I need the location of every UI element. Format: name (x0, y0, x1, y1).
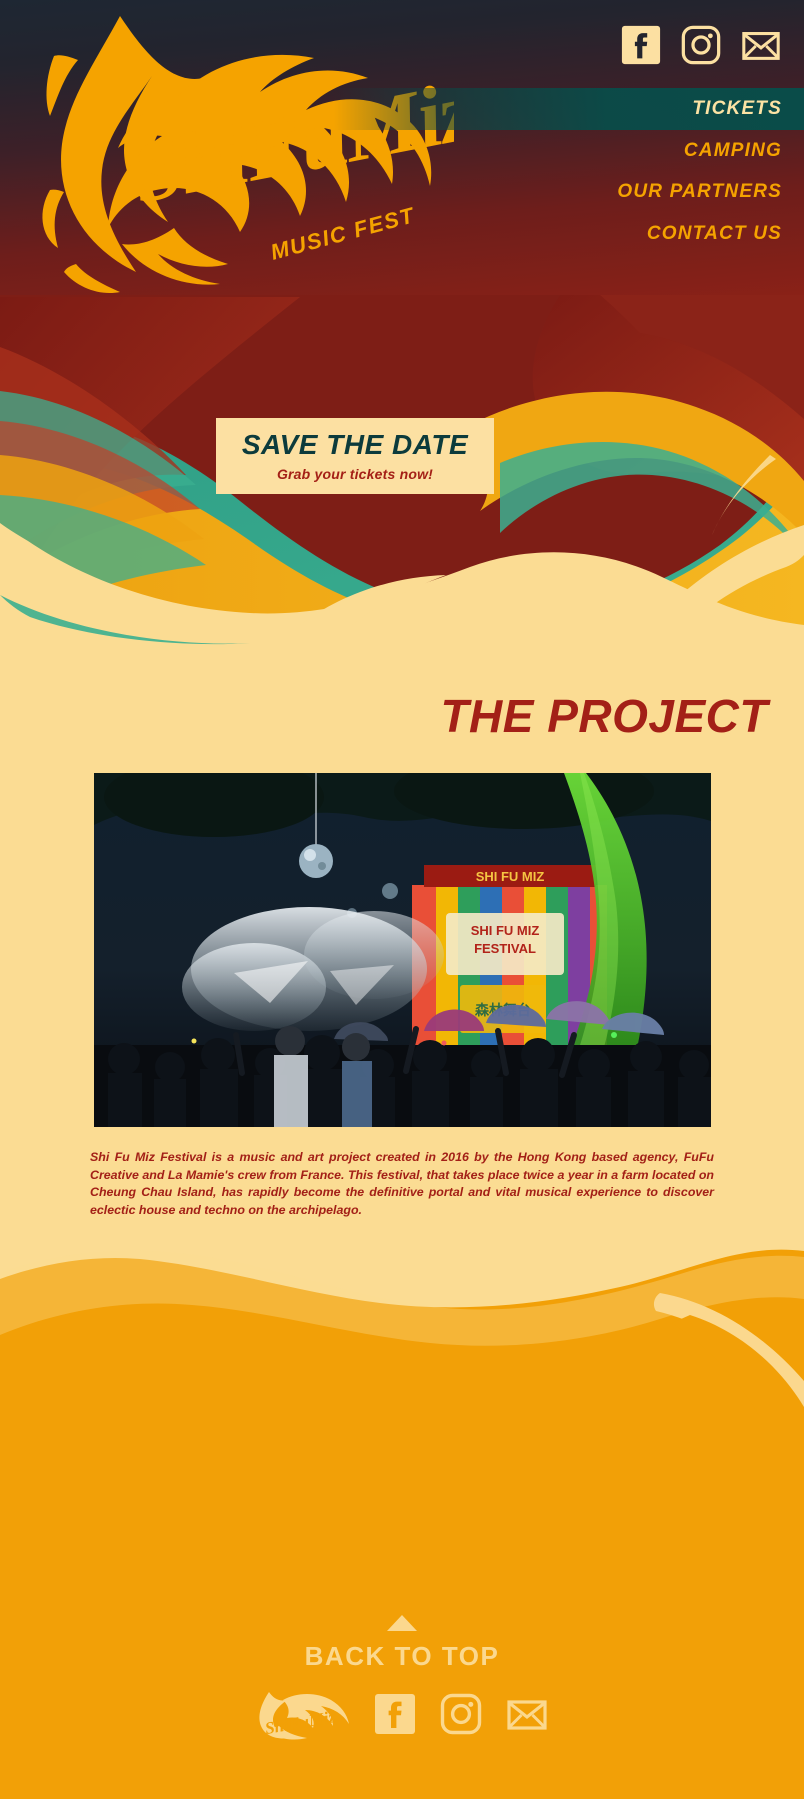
venue-section: THE VENUE Get to Cheung Chau Island (0, 1229, 804, 1621)
header-social-links (620, 24, 782, 66)
save-the-date-title: SAVE THE DATE (242, 431, 468, 459)
project-section: THE PROJECT (0, 645, 804, 1229)
svg-text:FESTIVAL: FESTIVAL (474, 941, 536, 956)
venue-wave-divider (0, 1229, 804, 1417)
back-to-top-label: BACK TO TOP (305, 1641, 500, 1672)
instagram-icon (680, 24, 722, 66)
header-instagram-link[interactable] (680, 24, 722, 66)
site-footer: BACK TO TOP ShiFuMiz (0, 1599, 804, 1799)
nav-item-tickets[interactable]: TICKETS (334, 88, 804, 130)
facebook-icon (620, 24, 662, 66)
page-root: ShiFuMiz MUSIC FEST (0, 0, 804, 1799)
project-heading: THE PROJECT (0, 645, 804, 743)
svg-text:SHI FU MIZ: SHI FU MIZ (470, 923, 539, 938)
main-navigation: TICKETS CAMPING OUR PARTNERS CONTACT US (334, 88, 804, 255)
svg-text:SHI FU MIZ: SHI FU MIZ (475, 869, 544, 884)
nav-item-our-partners[interactable]: OUR PARTNERS (334, 171, 804, 213)
project-photo: SHI FU MIZ FESTIVAL 森林舞台 SHI FU MIZ (94, 773, 711, 1127)
footer-email-link[interactable] (505, 1692, 549, 1736)
back-to-top-button[interactable]: BACK TO TOP (305, 1615, 500, 1672)
save-the-date-card[interactable]: SAVE THE DATE Grab your tickets now! (216, 418, 494, 494)
facebook-icon (373, 1692, 417, 1736)
festival-crowd-photo: SHI FU MIZ FESTIVAL 森林舞台 SHI FU MIZ (94, 773, 711, 1127)
email-icon (740, 24, 782, 66)
email-icon (505, 1692, 549, 1736)
site-header: ShiFuMiz MUSIC FEST (0, 0, 804, 296)
save-the-date-subtitle: Grab your tickets now! (277, 466, 433, 482)
footer-instagram-link[interactable] (439, 1692, 483, 1736)
triangle-up-icon (387, 1615, 417, 1631)
header-email-link[interactable] (740, 24, 782, 66)
project-description: Shi Fu Miz Festival is a music and art p… (90, 1149, 714, 1219)
footer-links-row: ShiFuMiz (255, 1686, 549, 1742)
instagram-icon (439, 1692, 483, 1736)
nav-item-camping[interactable]: CAMPING (334, 130, 804, 172)
header-facebook-link[interactable] (620, 24, 662, 66)
nav-item-contact-us[interactable]: CONTACT US (334, 213, 804, 255)
footer-facebook-link[interactable] (373, 1692, 417, 1736)
footer-logo[interactable]: ShiFuMiz (255, 1686, 351, 1742)
